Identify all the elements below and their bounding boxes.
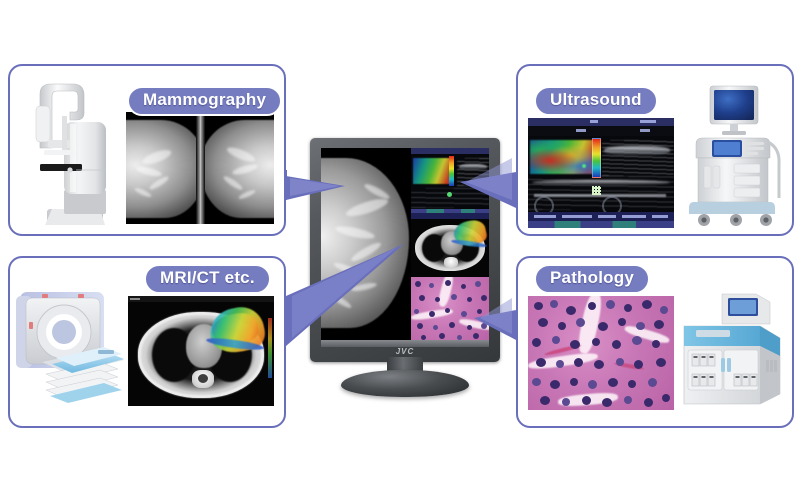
label-mrict: MRI/CT etc. (144, 264, 271, 294)
monitor-screen[interactable] (321, 148, 489, 340)
mammogram-image (126, 112, 274, 224)
monitor-mammogram-view[interactable] (321, 148, 411, 340)
monitor-right-column (411, 148, 489, 340)
ultrasound-cart-icon (684, 82, 784, 228)
monitor-screen-bottom-strip (321, 340, 489, 347)
mri-ct-scanner-icon (12, 278, 124, 408)
ultrasound-elastography-image (528, 118, 674, 228)
monitor-ultrasound-view[interactable] (411, 148, 489, 219)
monitor-stand-base (341, 370, 469, 397)
monitor-pathology-view[interactable] (411, 277, 489, 340)
pathology-slide-scanner-icon (676, 286, 788, 408)
ct-axial-chest-image (128, 296, 274, 406)
label-mammography: Mammography (127, 86, 282, 116)
medical-display-monitor[interactable]: JVC (310, 138, 500, 362)
label-pathology: Pathology (534, 264, 650, 294)
label-ultrasound: Ultrasound (534, 86, 658, 116)
monitor-ct-view[interactable] (411, 219, 489, 277)
histology-he-slide-image (528, 296, 674, 410)
diagram-canvas: Mammography (0, 0, 800, 500)
mammography-unit-icon (18, 78, 114, 230)
